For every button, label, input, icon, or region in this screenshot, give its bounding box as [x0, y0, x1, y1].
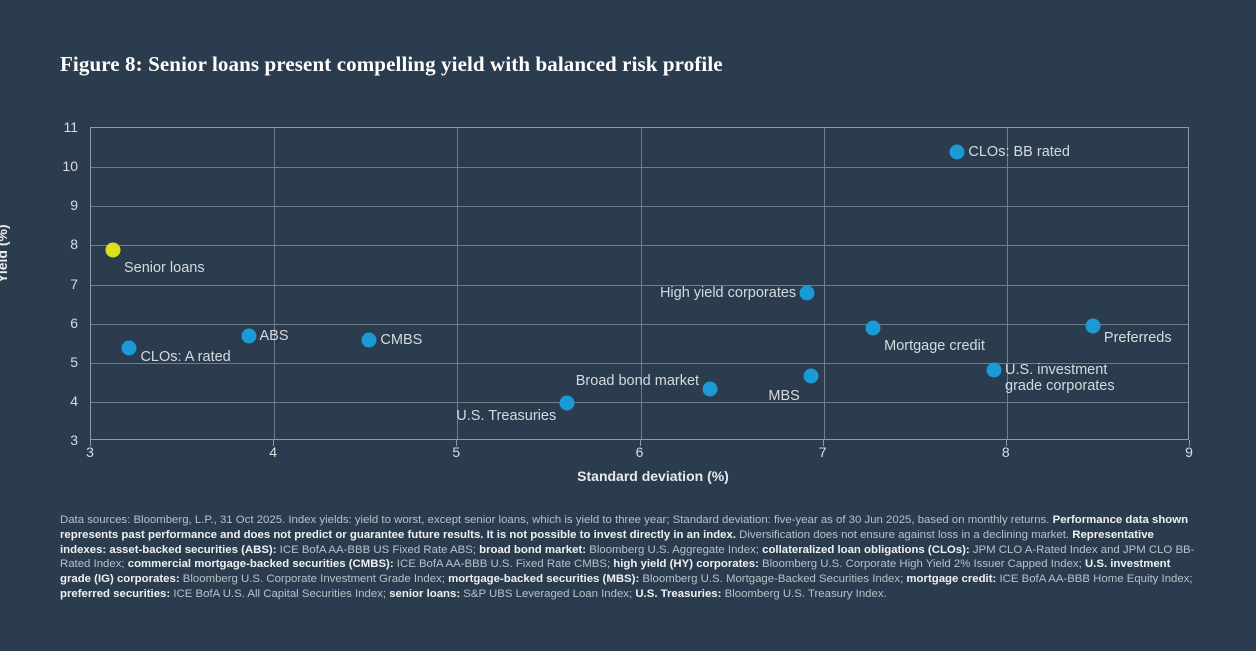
- data-point-label-line: CLOs: A rated: [140, 349, 230, 365]
- footnote-emphasis: U.S. Treasuries:: [635, 588, 724, 600]
- y-tick-label: 7: [38, 276, 78, 292]
- data-point[interactable]: [105, 243, 120, 258]
- data-point-label: ABS: [260, 328, 289, 344]
- x-tick-label: 6: [620, 444, 660, 460]
- data-point[interactable]: [950, 145, 965, 160]
- footnote-emphasis: commercial mortgage-backed securities (C…: [128, 558, 397, 570]
- footnote-emphasis: mortgage credit:: [906, 573, 999, 585]
- data-point-label-line: U.S. investment: [1005, 362, 1115, 378]
- y-tick-label: 4: [38, 393, 78, 409]
- y-tick-label: 9: [38, 197, 78, 213]
- data-point-label-line: Mortgage credit: [884, 338, 985, 354]
- footnote-text: Bloomberg U.S. Treasury Index.: [725, 588, 887, 600]
- footnote-emphasis: senior loans:: [389, 588, 463, 600]
- data-point-label: U.S. Treasuries: [456, 408, 556, 424]
- gridline-vertical: [457, 128, 458, 439]
- y-tick-label: 11: [38, 119, 78, 135]
- footnote-text: Bloomberg U.S. Mortgage-Backed Securitie…: [642, 573, 906, 585]
- data-point[interactable]: [560, 396, 575, 411]
- x-tick-label: 8: [986, 444, 1026, 460]
- x-axis-title: Standard deviation (%): [0, 468, 1256, 484]
- gridline-horizontal: [91, 206, 1188, 207]
- footnote-emphasis: high yield (HY) corporates:: [613, 558, 762, 570]
- x-tick-label: 4: [253, 444, 293, 460]
- y-axis-title: Yield (%): [0, 224, 10, 283]
- data-point-label: Mortgage credit: [884, 338, 985, 354]
- data-point-label: Senior loans: [124, 260, 205, 276]
- gridline-horizontal: [91, 324, 1188, 325]
- data-point-label: CLOs: A rated: [140, 349, 230, 365]
- y-tick-label: 5: [38, 354, 78, 370]
- gridline-vertical: [274, 128, 275, 439]
- data-point[interactable]: [362, 333, 377, 348]
- y-tick-label: 10: [38, 158, 78, 174]
- footnote-text: ICE BofA AA-BBB U.S. Fixed Rate CMBS;: [397, 558, 614, 570]
- x-tick-label: 3: [70, 444, 110, 460]
- footnote-text: ICE BofA U.S. All Capital Securities Ind…: [173, 588, 389, 600]
- data-point-label-line: Broad bond market: [576, 373, 699, 389]
- gridline-vertical: [824, 128, 825, 439]
- scatter-chart: Yield (%) Senior loansCLOs: A ratedABSCM…: [0, 0, 1256, 500]
- x-axis-title-text: Standard deviation (%): [577, 468, 729, 484]
- footnote-emphasis: collateralized loan obligations (CLOs):: [762, 544, 973, 556]
- data-point-label-line: MBS: [768, 388, 799, 404]
- footnote-text: Bloomberg U.S. Aggregate Index;: [589, 544, 762, 556]
- x-tick-label: 9: [1169, 444, 1209, 460]
- data-point-label: High yield corporates: [660, 285, 796, 301]
- x-tick-label: 5: [436, 444, 476, 460]
- footnote-text: S&P UBS Leveraged Loan Index;: [463, 588, 635, 600]
- data-point[interactable]: [803, 368, 818, 383]
- data-point-label-line: Senior loans: [124, 260, 205, 276]
- footnote-emphasis: mortgage-backed securities (MBS):: [448, 573, 642, 585]
- y-tick-label: 6: [38, 315, 78, 331]
- data-point-label-line: CLOs: BB rated: [968, 144, 1070, 160]
- footnote-text: Data sources: Bloomberg, L.P., 31 Oct 20…: [60, 514, 1053, 526]
- data-point-label: U.S. investmentgrade corporates: [1005, 362, 1115, 394]
- footnote-text: Bloomberg U.S. Corporate Investment Grad…: [183, 573, 448, 585]
- data-point-label-line: grade corporates: [1005, 378, 1115, 394]
- footnote-emphasis: preferred securities:: [60, 588, 173, 600]
- footnote-emphasis: broad bond market:: [479, 544, 589, 556]
- gridline-horizontal: [91, 402, 1188, 403]
- data-point[interactable]: [122, 340, 137, 355]
- footnote: Data sources: Bloomberg, L.P., 31 Oct 20…: [60, 513, 1200, 602]
- data-point[interactable]: [866, 320, 881, 335]
- y-tick-label: 8: [38, 236, 78, 252]
- data-point-label-line: High yield corporates: [660, 285, 796, 301]
- data-point-label: MBS: [768, 388, 799, 404]
- gridline-horizontal: [91, 285, 1188, 286]
- data-point-label: CLOs: BB rated: [968, 144, 1070, 160]
- data-point-label: Broad bond market: [576, 373, 699, 389]
- data-point[interactable]: [241, 329, 256, 344]
- gridline-horizontal: [91, 167, 1188, 168]
- data-point-label-line: ABS: [260, 328, 289, 344]
- data-point-label: CMBS: [380, 332, 422, 348]
- data-point-label-line: CMBS: [380, 332, 422, 348]
- footnote-text: ICE BofA AA-BBB Home Equity Index;: [999, 573, 1192, 585]
- data-point[interactable]: [1085, 318, 1100, 333]
- data-point[interactable]: [800, 286, 815, 301]
- data-point[interactable]: [703, 381, 718, 396]
- data-point[interactable]: [987, 362, 1002, 377]
- gridline-vertical: [641, 128, 642, 439]
- data-point-label-line: Preferreds: [1104, 330, 1172, 346]
- footnote-text: Bloomberg U.S. Corporate High Yield 2% I…: [762, 558, 1085, 570]
- x-tick-label: 7: [803, 444, 843, 460]
- gridline-horizontal: [91, 245, 1188, 246]
- footnote-text: ICE BofA AA-BBB US Fixed Rate ABS;: [280, 544, 479, 556]
- footnote-text: Diversification does not ensure against …: [739, 529, 1072, 541]
- data-point-label-line: U.S. Treasuries: [456, 408, 556, 424]
- data-point-label: Preferreds: [1104, 330, 1172, 346]
- plot-area: Senior loansCLOs: A ratedABSCMBSU.S. Tre…: [90, 127, 1189, 440]
